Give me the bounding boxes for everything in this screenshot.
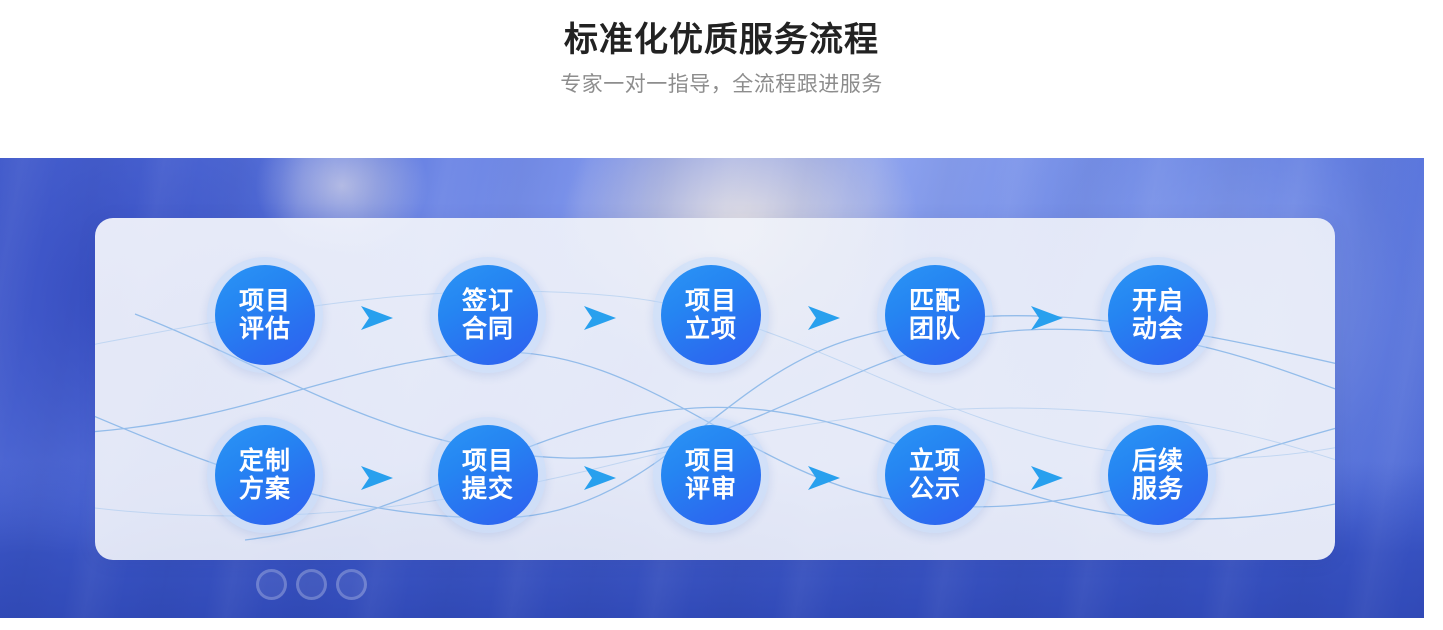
flow-arrow-5 <box>360 465 394 491</box>
flow-node-8-label: 项目 评审 <box>661 425 761 525</box>
page-title: 标准化优质服务流程 <box>0 18 1443 62</box>
flow-node-6-line2: 方案 <box>239 475 291 503</box>
flow-node-4-line1: 匹配 <box>909 287 961 315</box>
flow-node-3-line1: 项目 <box>685 287 737 315</box>
flow-node-5-line1: 开启 <box>1132 287 1184 315</box>
flow-node-1-line2: 评估 <box>239 315 291 343</box>
flow-node-2-line1: 签订 <box>462 287 514 315</box>
flow-node-2-line2: 合同 <box>462 315 514 343</box>
flow-nodes: 项目 评估 签订 合同 项目 立项 <box>95 218 1335 560</box>
flow-node-8[interactable]: 项目 评审 <box>653 417 769 533</box>
flow-node-6[interactable]: 定制 方案 <box>207 417 323 533</box>
flow-arrow-3 <box>807 305 841 331</box>
flow-node-7-line1: 项目 <box>462 447 514 475</box>
flow-arrow-6 <box>583 465 617 491</box>
flow-node-4[interactable]: 匹配 团队 <box>877 257 993 373</box>
flow-node-10-label: 后续 服务 <box>1108 425 1208 525</box>
flow-node-1-line1: 项目 <box>239 287 291 315</box>
page-subtitle: 专家一对一指导，全流程跟进服务 <box>0 68 1443 102</box>
page-header: 标准化优质服务流程 专家一对一指导，全流程跟进服务 <box>0 0 1443 102</box>
flow-node-9-line1: 立项 <box>909 447 961 475</box>
flow-node-2[interactable]: 签订 合同 <box>430 257 546 373</box>
flow-node-10[interactable]: 后续 服务 <box>1100 417 1216 533</box>
flow-node-9[interactable]: 立项 公示 <box>877 417 993 533</box>
flow-arrow-2 <box>583 305 617 331</box>
flow-node-7-line2: 提交 <box>462 475 514 503</box>
flow-arrow-1 <box>360 305 394 331</box>
flow-node-10-line1: 后续 <box>1132 447 1184 475</box>
photo-dot-icon <box>256 569 287 600</box>
flow-node-4-line2: 团队 <box>909 315 961 343</box>
flow-node-9-line2: 公示 <box>909 475 961 503</box>
flow-node-1-label: 项目 评估 <box>215 265 315 365</box>
flow-node-7[interactable]: 项目 提交 <box>430 417 546 533</box>
flow-arrow-4 <box>1030 305 1064 331</box>
flow-node-1[interactable]: 项目 评估 <box>207 257 323 373</box>
flow-arrow-7 <box>807 465 841 491</box>
flow-node-7-label: 项目 提交 <box>438 425 538 525</box>
flow-node-4-label: 匹配 团队 <box>885 265 985 365</box>
process-flow-panel: 项目 评估 签订 合同 项目 立项 <box>95 218 1335 560</box>
photo-dot-icon <box>296 569 327 600</box>
flow-node-8-line2: 评审 <box>685 475 737 503</box>
flow-node-3-line2: 立项 <box>685 315 737 343</box>
flow-node-6-label: 定制 方案 <box>215 425 315 525</box>
flow-node-3[interactable]: 项目 立项 <box>653 257 769 373</box>
hero-banner: 项目 评估 签订 合同 项目 立项 <box>0 158 1424 618</box>
photo-widget-dots <box>256 569 367 600</box>
flow-node-8-line1: 项目 <box>685 447 737 475</box>
flow-node-5[interactable]: 开启 动会 <box>1100 257 1216 373</box>
flow-node-5-label: 开启 动会 <box>1108 265 1208 365</box>
flow-node-5-line2: 动会 <box>1132 315 1184 343</box>
flow-node-3-label: 项目 立项 <box>661 265 761 365</box>
flow-node-6-line1: 定制 <box>239 447 291 475</box>
flow-node-9-label: 立项 公示 <box>885 425 985 525</box>
flow-node-10-line2: 服务 <box>1132 475 1184 503</box>
flow-node-2-label: 签订 合同 <box>438 265 538 365</box>
photo-dot-icon <box>336 569 367 600</box>
flow-arrow-8 <box>1030 465 1064 491</box>
